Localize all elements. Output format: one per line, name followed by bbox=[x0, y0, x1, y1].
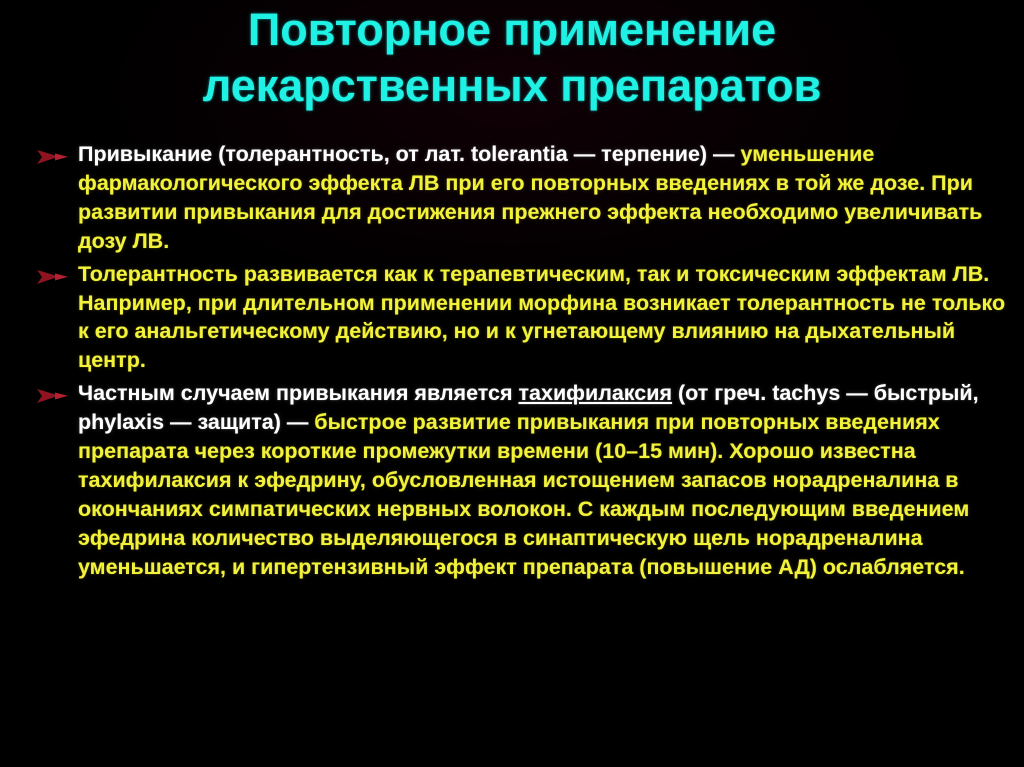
bullet-list: Привыкание (толерантность, от лат. toler… bbox=[30, 140, 1008, 586]
arrow-bullet-icon bbox=[35, 268, 69, 286]
page-title-line-2: лекарственных препаратов bbox=[0, 58, 1024, 114]
page-title: Повторное применение лекарственных препа… bbox=[0, 2, 1024, 114]
slide-canvas: Повторное применение лекарственных препа… bbox=[0, 0, 1024, 767]
list-item-body: быстрое развитие привыкания при повторны… bbox=[78, 410, 969, 579]
arrow-bullet-icon bbox=[35, 148, 69, 166]
list-item: Толерантность развивается как к терапевт… bbox=[30, 260, 1008, 376]
list-item: Привыкание (толерантность, от лат. toler… bbox=[30, 140, 1008, 256]
list-item-lead-a: Частным случаем привыкания является bbox=[78, 381, 519, 405]
arrow-bullet-icon bbox=[35, 387, 69, 405]
page-title-line-1: Повторное применение bbox=[0, 2, 1024, 58]
list-item-text: Толерантность развивается как к терапевт… bbox=[78, 260, 1008, 376]
list-item-text: Частным случаем привыкания является тахи… bbox=[78, 379, 1008, 581]
list-item-underlined-term: тахифилаксия bbox=[519, 381, 673, 405]
list-item-lead: Привыкание (толерантность, от лат. toler… bbox=[78, 142, 735, 166]
list-item-body: Толерантность развивается как к терапевт… bbox=[78, 262, 1005, 373]
list-item-text: Привыкание (толерантность, от лат. toler… bbox=[78, 140, 1008, 256]
list-item: Частным случаем привыкания является тахи… bbox=[30, 379, 1008, 581]
